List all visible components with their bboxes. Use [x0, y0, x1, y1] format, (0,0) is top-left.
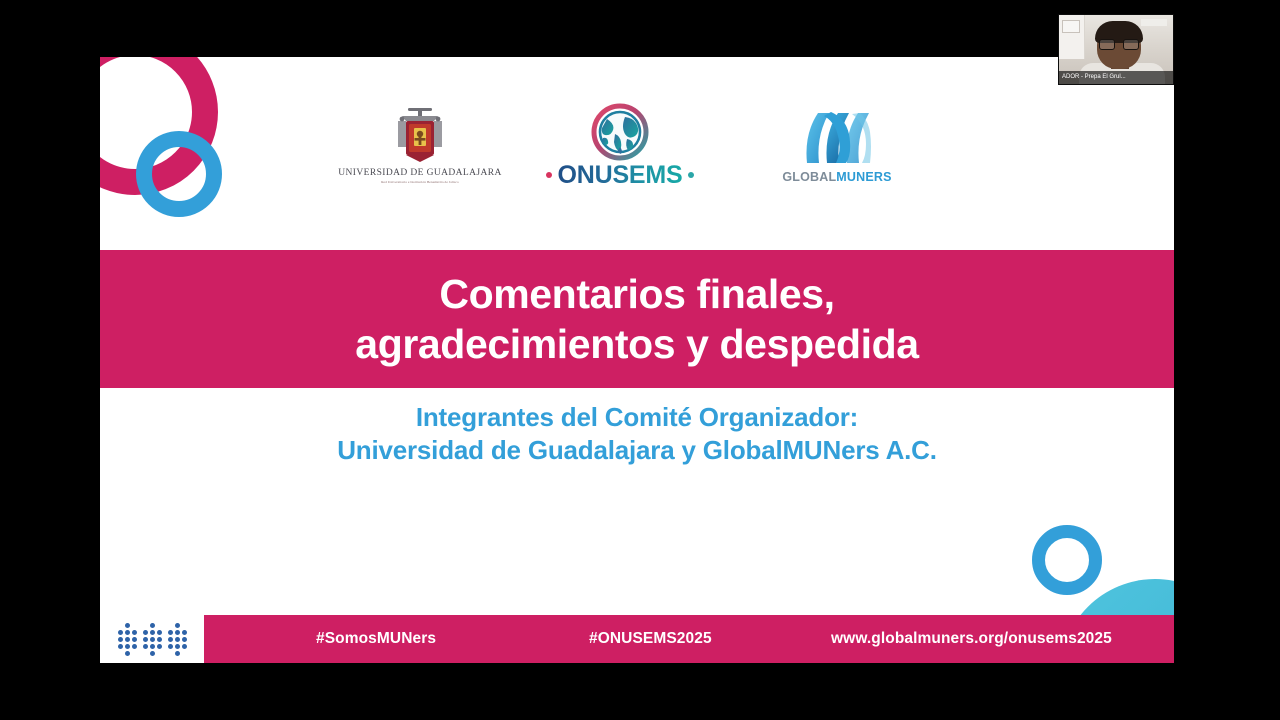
dot-cluster	[143, 623, 162, 656]
footer-bar: #SomosMUNers #ONUSEMS2025 www.globalmune…	[204, 615, 1174, 663]
footer-url-text: www.globalmuners.org/onusems2025	[831, 630, 1112, 648]
onusems-left-dot-icon	[546, 172, 552, 178]
presentation-slide: UNIVERSIDAD DE GUADALAJARA Red Universit…	[100, 57, 1174, 663]
title-band: Comentarios finales, agradecimientos y d…	[100, 250, 1174, 388]
globalmuners-global-text: GLOBAL	[782, 170, 836, 184]
webcam-thumbnail[interactable]: ADOR - Prepa El Grul...	[1058, 14, 1174, 85]
webcam-poster	[1062, 20, 1080, 33]
globalmuners-muners-text: MUNERS	[836, 170, 891, 184]
webcam-person-glasses-icon	[1099, 39, 1139, 50]
udg-name-text: UNIVERSIDAD DE GUADALAJARA	[338, 168, 501, 179]
logo-row: UNIVERSIDAD DE GUADALAJARA Red Universit…	[100, 90, 1174, 200]
dot-cluster	[168, 623, 187, 656]
footer-dot-pattern-icon	[100, 615, 204, 663]
footer-hashtag-text: #SomosMUNers	[316, 630, 436, 648]
onusems-text: ONUSEMS	[557, 163, 682, 188]
webcam-participant-label: ADOR - Prepa El Grul...	[1059, 71, 1173, 84]
webcam-poster-secondary	[1141, 19, 1167, 26]
blue-ring-decoration-bottom-icon	[1032, 525, 1102, 595]
logo-globalmuners: GLOBALMUNERS	[772, 106, 902, 184]
footer-event-hashtag-text: #ONUSEMS2025	[589, 630, 712, 648]
udg-crest-icon	[388, 106, 452, 164]
dot-cluster	[118, 623, 137, 656]
udg-tagline-text: Red Universitaria e Institución Beneméri…	[381, 180, 459, 184]
onusems-right-dot-icon	[688, 172, 694, 178]
logo-universidad-de-guadalajara: UNIVERSIDAD DE GUADALAJARA Red Universit…	[372, 106, 468, 184]
globalmuners-wordmark: GLOBALMUNERS	[782, 171, 891, 184]
logo-onusems: ONUSEMS	[530, 103, 710, 188]
globe-icon	[589, 103, 651, 165]
globalmuners-m-icon	[800, 106, 874, 168]
slide-title: Comentarios finales, agradecimientos y d…	[355, 269, 918, 369]
onusems-wordmark: ONUSEMS	[546, 163, 693, 188]
slide-subtitle: Integrantes del Comité Organizador: Univ…	[100, 401, 1174, 466]
screen: UNIVERSIDAD DE GUADALAJARA Red Universit…	[0, 0, 1280, 720]
